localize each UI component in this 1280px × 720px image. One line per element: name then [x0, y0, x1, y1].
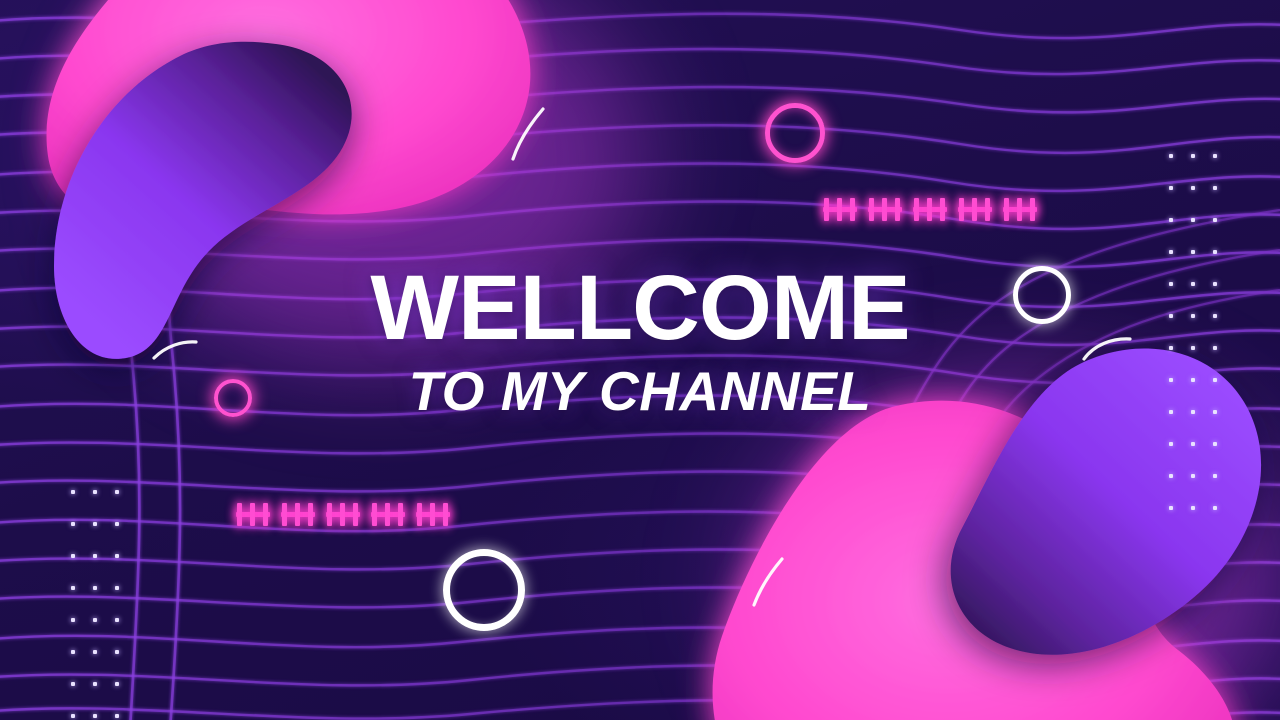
- tally-mark: [823, 198, 857, 220]
- tally-group-bottom-left: [236, 503, 450, 525]
- tally-mark: [281, 503, 315, 525]
- ring-pink-top-right: [765, 103, 825, 163]
- tally-mark: [326, 503, 360, 525]
- ring-white-bottom: [443, 549, 525, 631]
- tally-mark: [371, 503, 405, 525]
- tally-mark: [958, 198, 992, 220]
- page-title: WELLCOME: [0, 262, 1280, 354]
- tally-mark: [236, 503, 270, 525]
- tally-mark: [416, 503, 450, 525]
- tally-mark: [868, 198, 902, 220]
- banner-canvas: WELLCOME TO MY CHANNEL: [0, 0, 1280, 720]
- tally-mark: [913, 198, 947, 220]
- headline-block: WELLCOME TO MY CHANNEL: [0, 262, 1280, 419]
- tally-mark: [1003, 198, 1037, 220]
- tally-group-top-right: [823, 198, 1037, 220]
- page-subtitle: TO MY CHANNEL: [0, 364, 1280, 419]
- dot-grid-left: [62, 476, 128, 720]
